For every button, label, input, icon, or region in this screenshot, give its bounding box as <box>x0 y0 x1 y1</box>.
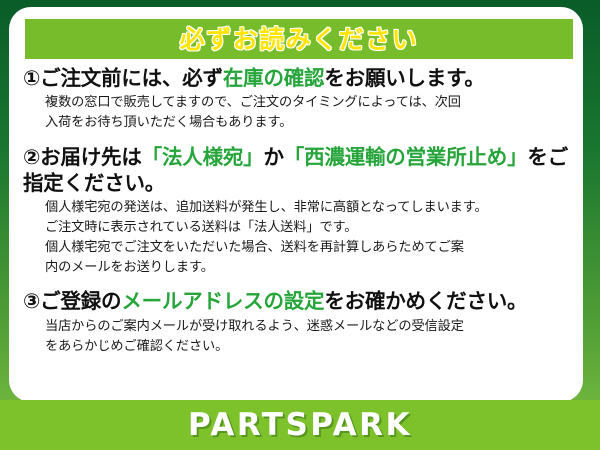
heading-text: か <box>263 145 283 169</box>
heading-text: をお願いします。 <box>324 66 484 90</box>
notice-item-3-body: 当店からのご案内メールが受け取れるよう、迷惑メールなどの受信設定 をあらかじめご… <box>45 317 571 357</box>
notice-header-bar: 必ずお読みください <box>25 19 573 59</box>
heading-highlight: 「法人様宛」 <box>142 145 264 169</box>
heading-text: をお確かめください。 <box>324 289 527 313</box>
notice-item-1-heading: ①ご注文前には、必ず在庫の確認をお願いします。 <box>23 65 571 91</box>
brand-logo: PARTSPARK <box>188 410 412 441</box>
heading-text: ①ご注文前には、必ず <box>23 66 223 90</box>
heading-highlight: メールアドレスの設定 <box>121 289 324 313</box>
body-line: 入荷をお待ち頂いただく場合もあります。 <box>45 113 571 133</box>
body-line: 当店からのご案内メールが受け取れるよう、迷惑メールなどの受信設定 <box>45 317 571 337</box>
body-line: 複数の窓口で販売してますので、ご注文のタイミングによっては、次回 <box>45 93 571 113</box>
notice-item-2-heading: ②お届け先は「法人様宛」か「西濃運輸の営業所止め」をご指定ください。 <box>23 144 571 196</box>
body-line: ご注文時に表示されている送料は「法人送料」です。 <box>45 218 571 238</box>
heading-text: ②お届け先は <box>23 145 142 169</box>
notice-item-2: ②お届け先は「法人様宛」か「西濃運輸の営業所止め」をご指定ください。 個人様宅宛… <box>23 144 571 278</box>
heading-highlight: 「西濃運輸の営業所止め」 <box>284 145 528 169</box>
spacer <box>23 135 571 144</box>
notice-sheet: 必ずお読みください ①ご注文前には、必ず在庫の確認をお願いします。 複数の窓口で… <box>9 7 583 402</box>
notice-header-title: 必ずお読みください <box>180 27 419 52</box>
spacer <box>23 279 571 288</box>
notice-item-1: ①ご注文前には、必ず在庫の確認をお願いします。 複数の窓口で販売してますので、ご… <box>23 65 571 133</box>
body-line: 個人様宅宛の発送は、追加送料が発生し、非常に高額となってしまいます。 <box>45 198 571 218</box>
body-line: 内のメールをお送りします。 <box>45 258 571 278</box>
body-line: 個人様宅宛でご注文をいただいた場合、送料を再計算しあらためてご案 <box>45 238 571 258</box>
heading-text: ③ご登録の <box>23 289 121 313</box>
notice-item-1-body: 複数の窓口で販売してますので、ご注文のタイミングによっては、次回 入荷をお待ち頂… <box>45 93 571 133</box>
footer-bar: PARTSPARK <box>0 400 600 450</box>
notice-item-3: ③ご登録のメールアドレスの設定をお確かめください。 当店からのご案内メールが受け… <box>23 288 571 356</box>
body-line: をあらかじめご確認ください。 <box>45 337 571 357</box>
notice-item-3-heading: ③ご登録のメールアドレスの設定をお確かめください。 <box>23 288 571 314</box>
notice-banner: 必ずお読みください ①ご注文前には、必ず在庫の確認をお願いします。 複数の窓口で… <box>0 0 600 450</box>
notice-body: ①ご注文前には、必ず在庫の確認をお願いします。 複数の窓口で販売してますので、ご… <box>9 65 583 358</box>
heading-highlight: 在庫の確認 <box>223 66 325 90</box>
notice-item-2-body: 個人様宅宛の発送は、追加送料が発生し、非常に高額となってしまいます。 ご注文時に… <box>45 198 571 277</box>
